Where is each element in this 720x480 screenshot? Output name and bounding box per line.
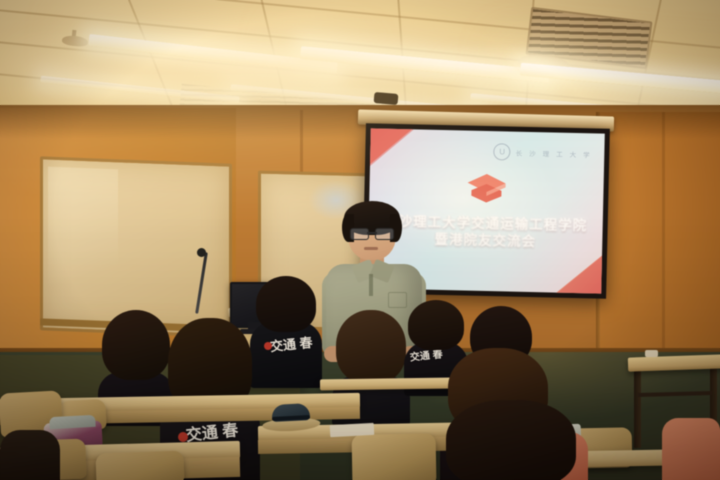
audience-hair [336,310,406,384]
side-table-leg [634,368,641,448]
navy-bucket-hat [261,403,320,432]
chair-back [95,450,184,480]
eyeglass-lens-right [375,228,394,240]
eyeglass-bridge [367,232,377,234]
audience-member [436,400,586,480]
microphone-capsule [197,248,206,257]
audience-hair [256,276,316,332]
audience-member [662,418,720,480]
slide-logo: U 长 沙 理 工 大 学 [494,143,593,162]
tshirt-red-seal [178,432,188,442]
audience-member: 交通 春 [250,276,322,386]
slide-accent-bottom-right-inner [539,246,605,293]
slide-accent-top-left-inner [367,128,437,179]
presenter-shirt-placket [369,274,373,296]
slide-logo-text: 长 沙 理 工 大 学 [516,147,593,159]
chair-back [352,433,437,480]
audience-hair [446,400,576,480]
eyeglass-lens-left [350,228,369,240]
whiteboard-glare [48,167,118,320]
wall-seam [662,112,665,362]
eyeglasses-icon [350,228,394,238]
audience-hair [408,300,464,350]
graduation-cap-icon [465,172,508,207]
right-wall-panel [600,112,720,372]
tshirt-graphic-text: 交通 春 [410,350,444,363]
lecture-room-photo: U 长 沙 理 工 大 学 长沙理工大学交通运输工程学院 暨港院友交流会 [0,0,720,480]
bag-top [49,415,96,429]
tshirt-graphic-text: 交通 春 [269,336,313,353]
handout-papers [330,423,375,437]
audience-torso [662,418,720,480]
audience-member [0,430,60,480]
audience-torso [0,430,60,480]
ceiling-projector [374,92,399,105]
side-table-object [645,350,658,357]
tshirt-red-seal [264,342,272,350]
university-emblem-icon: U [494,143,511,160]
presenter-mouth [364,247,378,250]
